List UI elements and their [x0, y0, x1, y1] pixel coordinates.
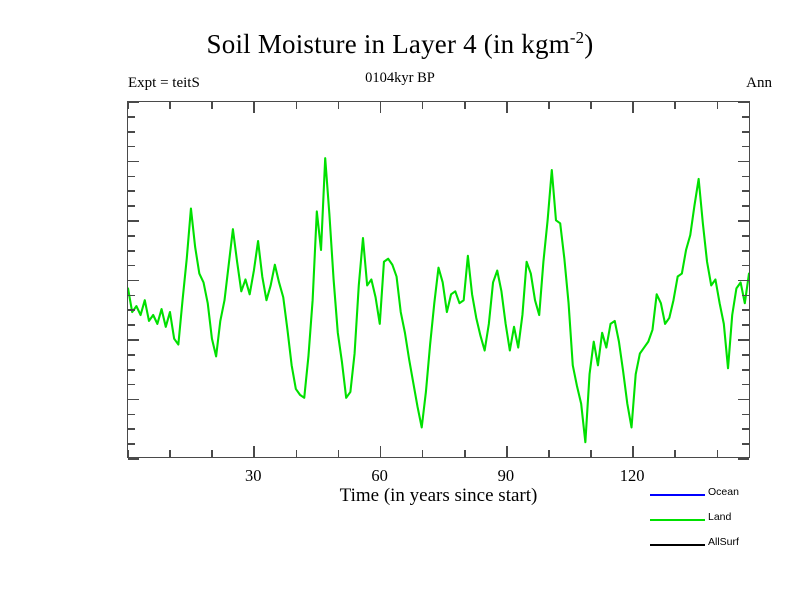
x-tick-major — [253, 102, 255, 113]
y-tick-major — [738, 161, 749, 163]
x-tick-major — [380, 446, 382, 457]
legend-item-label: Ocean — [708, 486, 739, 498]
y-tick-minor — [742, 235, 749, 237]
legend-item-label: AllSurf — [708, 536, 739, 548]
y-tick-major — [738, 220, 749, 222]
x-tick-label: 90 — [498, 466, 515, 486]
legend-item-land[interactable]: Land — [650, 508, 790, 533]
x-tick-minor — [211, 450, 213, 457]
x-tick-minor — [211, 102, 213, 109]
series-canvas — [128, 102, 749, 457]
y-tick-minor — [742, 309, 749, 311]
legend-swatch-icon — [650, 544, 705, 546]
y-tick-minor — [128, 131, 135, 133]
page-title: Soil Moisture in Layer 4 (in kgm-2) — [0, 28, 800, 60]
x-tick-minor — [464, 102, 466, 109]
legend-item-ocean[interactable]: Ocean — [650, 483, 790, 508]
x-tick-minor — [127, 450, 129, 457]
x-tick-minor — [717, 102, 719, 109]
x-tick-minor — [674, 102, 676, 109]
x-tick-major — [632, 102, 634, 113]
page-title-tail: ) — [584, 29, 593, 59]
y-tick-minor — [128, 309, 135, 311]
y-tick-minor — [742, 384, 749, 386]
x-tick-minor — [422, 102, 424, 109]
x-tick-minor — [548, 450, 550, 457]
y-tick-minor — [742, 250, 749, 252]
page-title-main: Soil Moisture in Layer 4 (in kgm — [207, 29, 570, 59]
y-tick-minor — [128, 324, 135, 326]
y-tick-major — [128, 101, 139, 103]
y-tick-minor — [128, 190, 135, 192]
y-tick-major — [738, 339, 749, 341]
y-tick-minor — [742, 265, 749, 267]
legend-swatch-icon — [650, 494, 705, 496]
x-tick-minor — [590, 102, 592, 109]
y-tick-minor — [742, 295, 749, 297]
y-tick-minor — [128, 146, 135, 148]
x-tick-minor — [548, 102, 550, 109]
y-tick-major — [128, 220, 139, 222]
x-tick-minor — [169, 102, 171, 109]
y-tick-minor — [742, 324, 749, 326]
y-tick-minor — [128, 354, 135, 356]
y-tick-minor — [128, 235, 135, 237]
y-tick-minor — [742, 116, 749, 118]
y-tick-minor — [742, 131, 749, 133]
x-tick-minor — [127, 102, 129, 109]
x-tick-label: 60 — [371, 466, 388, 486]
x-tick-minor — [296, 102, 298, 109]
legend-swatch-icon — [650, 519, 705, 521]
y-tick-minor — [742, 354, 749, 356]
figure-root: Soil Moisture in Layer 4 (in kgm-2) Expt… — [0, 0, 800, 600]
y-tick-minor — [128, 205, 135, 207]
x-tick-major — [632, 446, 634, 457]
x-tick-major — [253, 446, 255, 457]
y-tick-major — [128, 280, 139, 282]
x-tick-minor — [169, 450, 171, 457]
y-tick-minor — [128, 265, 135, 267]
y-tick-minor — [742, 146, 749, 148]
y-tick-major — [128, 399, 139, 401]
x-tick-minor — [338, 450, 340, 457]
x-tick-major — [506, 102, 508, 113]
legend-item-label: Land — [708, 511, 731, 523]
y-tick-minor — [742, 443, 749, 445]
legend: OceanLandAllSurf — [650, 483, 790, 558]
land-series-line — [128, 158, 749, 442]
x-tick-label: 120 — [620, 466, 645, 486]
y-tick-major — [738, 101, 749, 103]
y-tick-major — [128, 339, 139, 341]
annual-mean-label: Ann — [746, 75, 772, 92]
y-tick-minor — [128, 369, 135, 371]
y-tick-major — [128, 161, 139, 163]
y-tick-minor — [128, 384, 135, 386]
y-tick-minor — [128, 116, 135, 118]
y-tick-major — [738, 399, 749, 401]
y-tick-major — [738, 280, 749, 282]
y-tick-minor — [128, 295, 135, 297]
period-label: 0104kyr BP — [0, 70, 800, 87]
x-tick-minor — [338, 102, 340, 109]
x-tick-major — [380, 102, 382, 113]
x-tick-minor — [464, 450, 466, 457]
x-tick-minor — [717, 450, 719, 457]
y-tick-minor — [742, 176, 749, 178]
y-tick-minor — [128, 428, 135, 430]
plot-area — [127, 101, 750, 458]
y-tick-major — [738, 458, 749, 460]
x-tick-minor — [296, 450, 298, 457]
page-title-exponent: -2 — [570, 28, 584, 47]
y-tick-minor — [128, 443, 135, 445]
x-tick-major — [506, 446, 508, 457]
y-tick-minor — [128, 176, 135, 178]
y-tick-minor — [742, 205, 749, 207]
y-tick-minor — [742, 190, 749, 192]
y-tick-minor — [742, 428, 749, 430]
y-tick-minor — [742, 369, 749, 371]
legend-item-allsurf[interactable]: AllSurf — [650, 533, 790, 558]
y-tick-minor — [128, 250, 135, 252]
x-tick-minor — [674, 450, 676, 457]
y-tick-major — [128, 458, 139, 460]
x-tick-label: 30 — [245, 466, 262, 486]
y-tick-minor — [128, 414, 135, 416]
y-tick-minor — [742, 414, 749, 416]
x-tick-minor — [422, 450, 424, 457]
x-tick-minor — [590, 450, 592, 457]
